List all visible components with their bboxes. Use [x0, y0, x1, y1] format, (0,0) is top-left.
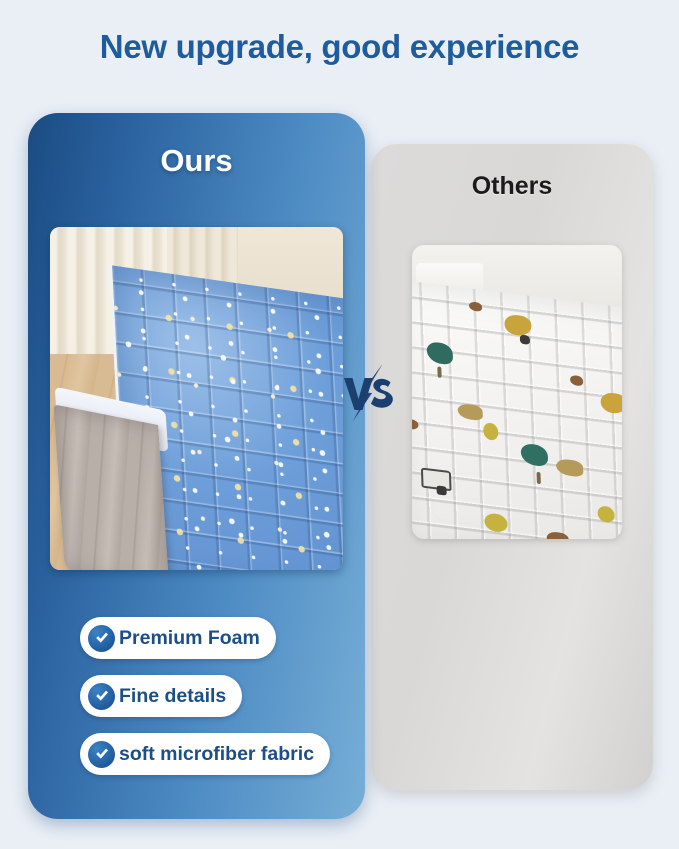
page-title: New upgrade, good experience — [0, 28, 679, 66]
others-photo-scene — [412, 245, 622, 539]
ours-heading: Ours — [28, 143, 365, 179]
ours-scene-mat-underside — [53, 404, 170, 570]
others-scene-mat — [412, 279, 622, 539]
others-product-photo — [412, 245, 622, 539]
check-circle-icon — [88, 683, 115, 710]
ours-feature-label: Premium Foam — [119, 627, 260, 650]
others-heading: Others — [371, 172, 653, 201]
ours-feature-label: soft microfiber fabric — [119, 743, 314, 766]
vs-badge — [338, 362, 400, 424]
others-scene-animal-prints — [412, 279, 622, 539]
check-circle-icon — [88, 741, 115, 768]
ours-feature-pill-2: Fine details — [80, 675, 242, 717]
ours-photo-scene — [50, 227, 343, 570]
ours-product-photo — [50, 227, 343, 570]
ours-panel: Ours Premium Foam Fine details — [28, 113, 365, 819]
others-panel: Others — [371, 144, 653, 790]
ours-feature-pill-3: soft microfiber fabric — [80, 733, 330, 775]
ours-feature-label: Fine details — [119, 685, 226, 708]
ours-feature-pill-1: Premium Foam — [80, 617, 276, 659]
check-circle-icon — [88, 625, 115, 652]
